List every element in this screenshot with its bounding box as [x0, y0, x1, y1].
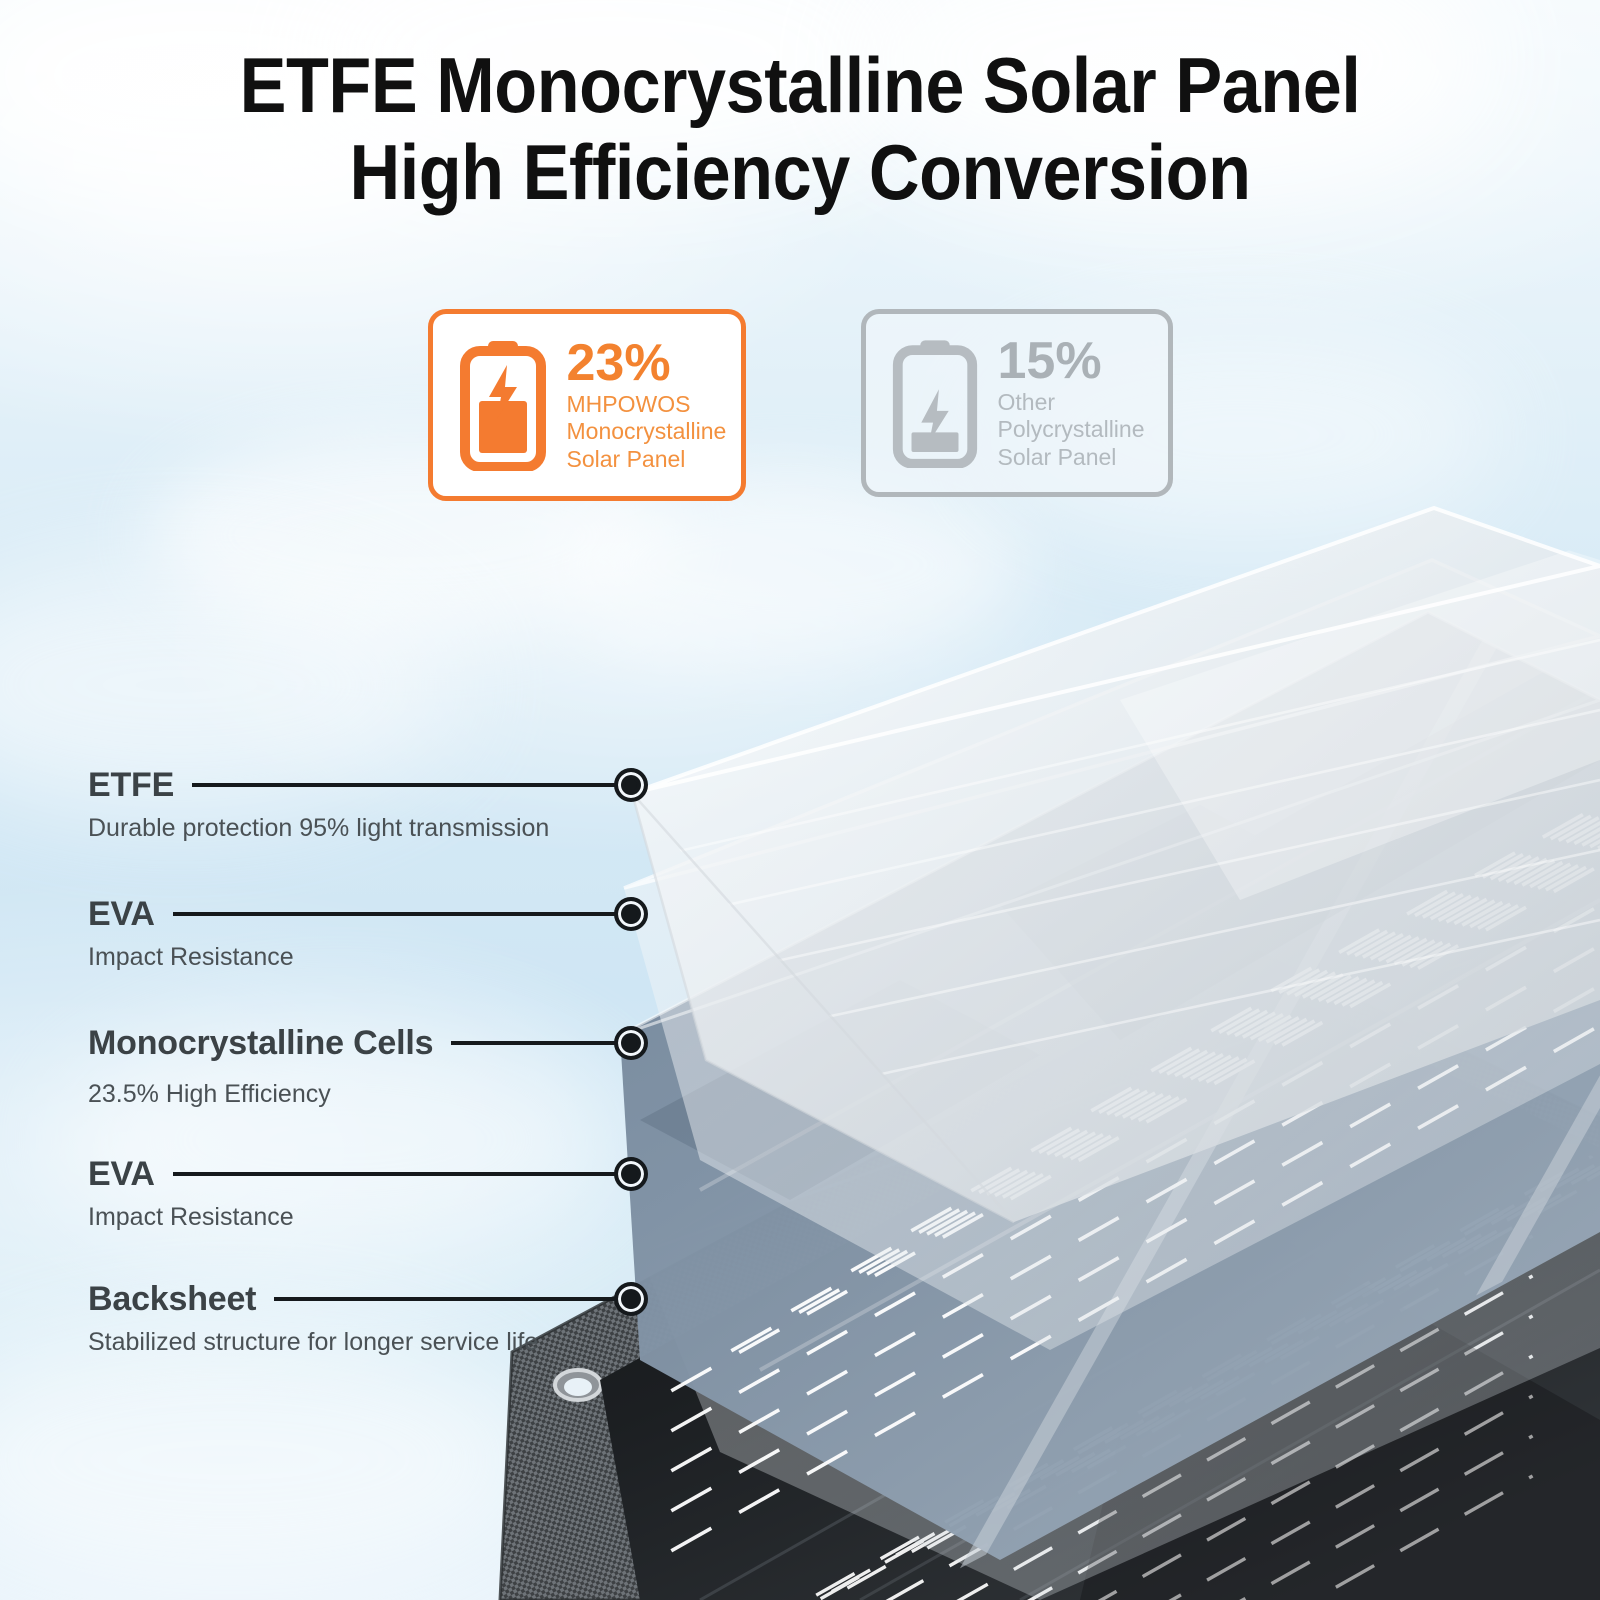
callout-desc: Impact Resistance: [88, 943, 648, 972]
page-title: ETFE Monocrystalline Solar Panel High Ef…: [0, 42, 1600, 217]
callout-monocrystalline-cells: Monocrystalline Cells 23.5% High Efficie…: [88, 1020, 648, 1109]
callout-backsheet: Backsheet Stabilized structure for longe…: [88, 1276, 648, 1357]
callout-title: Monocrystalline Cells: [88, 1024, 433, 1063]
callout-title: Backsheet: [88, 1280, 256, 1319]
badge-percent: 15%: [998, 335, 1145, 387]
leader-line: [173, 1172, 616, 1176]
infographic-canvas: ETFE Monocrystalline Solar Panel High Ef…: [0, 0, 1600, 1600]
badge-line3: Solar Panel: [567, 446, 727, 473]
callout-title: EVA: [88, 1155, 155, 1194]
badge-mhpowos: 23% MHPOWOS Monocrystalline Solar Panel: [428, 309, 746, 501]
callout-title: EVA: [88, 895, 155, 934]
title-line-1: ETFE Monocrystalline Solar Panel: [80, 42, 1520, 129]
callout-desc: Stabilized structure for longer service …: [88, 1328, 648, 1357]
leader-line: [451, 1041, 616, 1045]
badge-line2: Monocrystalline: [567, 418, 727, 445]
leader-dot-icon: [614, 1282, 648, 1316]
badge-line3: Solar Panel: [998, 444, 1145, 471]
leader-dot-icon: [614, 897, 648, 931]
leader-line: [274, 1297, 616, 1301]
leader-line: [192, 783, 616, 787]
callout-eva-bottom: EVA Impact Resistance: [88, 1151, 648, 1232]
battery-charging-icon: [455, 339, 551, 471]
badge-percent: 23%: [567, 337, 727, 389]
callout-title: ETFE: [88, 766, 174, 805]
callout-desc: Impact Resistance: [88, 1203, 648, 1232]
badge-other: 15% Other Polycrystalline Solar Panel: [861, 309, 1173, 497]
battery-charging-icon: [888, 338, 982, 468]
callout-eva-top: EVA Impact Resistance: [88, 891, 648, 972]
layer-callout-list: ETFE Durable protection 95% light transm…: [88, 762, 648, 1357]
efficiency-comparison-badges: 23% MHPOWOS Monocrystalline Solar Panel …: [0, 309, 1600, 501]
badge-brand: Other: [998, 389, 1145, 416]
leader-dot-icon: [614, 768, 648, 802]
callout-etfe: ETFE Durable protection 95% light transm…: [88, 762, 648, 843]
leader-dot-icon: [614, 1157, 648, 1191]
badge-line2: Polycrystalline: [998, 416, 1145, 443]
leader-line: [173, 912, 616, 916]
callout-desc: Durable protection 95% light transmissio…: [88, 814, 648, 843]
callout-desc: 23.5% High Efficiency: [88, 1080, 648, 1109]
badge-brand: MHPOWOS: [567, 391, 727, 418]
title-line-2: High Efficiency Conversion: [80, 129, 1520, 216]
leader-dot-icon: [614, 1026, 648, 1060]
